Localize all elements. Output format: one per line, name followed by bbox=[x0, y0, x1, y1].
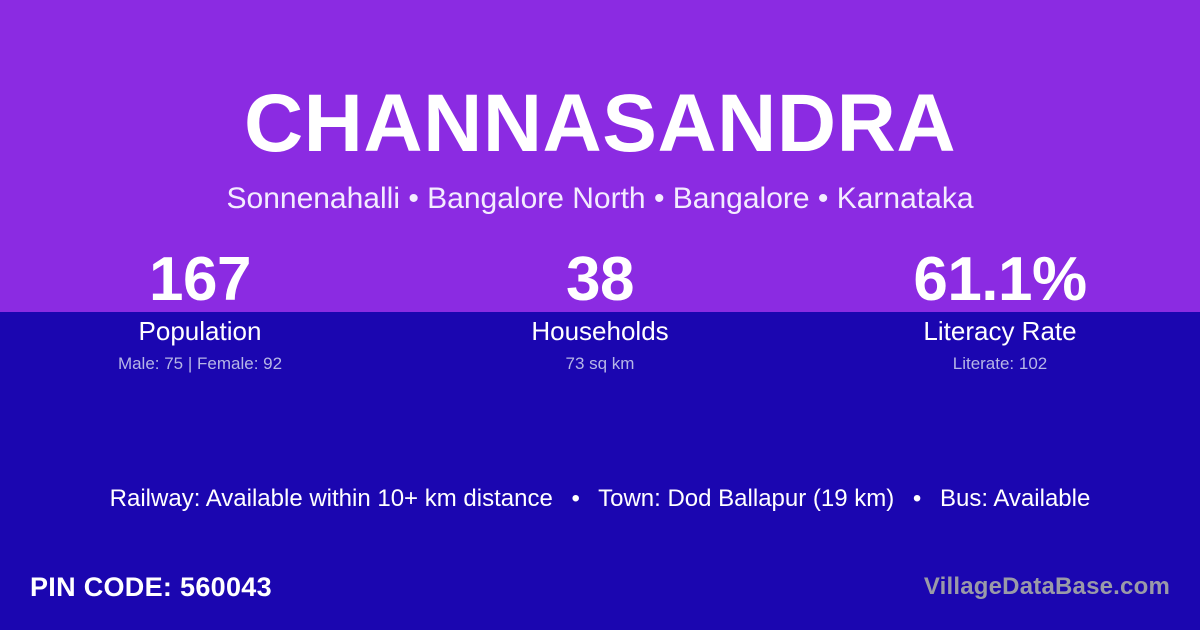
bullet-separator-icon: • bbox=[559, 485, 591, 512]
site-brand: VillageDataBase.com bbox=[924, 572, 1170, 602]
stat-households-value: 38 bbox=[400, 248, 800, 312]
stat-population-detail: Male: 75 | Female: 92 bbox=[0, 354, 400, 374]
stat-literacy-rate-label: Literacy Rate bbox=[800, 316, 1200, 346]
stat-population-label: Population bbox=[0, 316, 400, 346]
stat-households-detail: 73 sq km bbox=[400, 354, 800, 374]
statistics-row: 167 Population Male: 75 | Female: 92 38 … bbox=[0, 248, 1200, 388]
page-title: CHANNASANDRA bbox=[0, 82, 1200, 166]
stat-population-value: 167 bbox=[0, 248, 400, 312]
bullet-separator-icon: • bbox=[901, 485, 933, 512]
infrastructure-town: Town: Dod Ballapur (19 km) bbox=[598, 485, 894, 512]
infrastructure-bus: Bus: Available bbox=[940, 485, 1090, 512]
stat-literacy-rate-value: 61.1% bbox=[800, 248, 1200, 312]
stat-literacy-rate: 61.1% Literacy Rate Literate: 102 bbox=[800, 248, 1200, 388]
breadcrumb: Sonnenahalli • Bangalore North • Bangalo… bbox=[0, 180, 1200, 218]
village-info-card: CHANNASANDRA Sonnenahalli • Bangalore No… bbox=[0, 0, 1200, 630]
infrastructure-railway: Railway: Available within 10+ km distanc… bbox=[110, 485, 553, 512]
stat-households-label: Households bbox=[400, 316, 800, 346]
stat-population: 167 Population Male: 75 | Female: 92 bbox=[0, 248, 400, 388]
infrastructure-summary: Railway: Available within 10+ km distanc… bbox=[0, 483, 1200, 515]
stat-literacy-rate-detail: Literate: 102 bbox=[800, 354, 1200, 374]
footer: PIN CODE: 560043 VillageDataBase.com bbox=[0, 558, 1200, 630]
pin-code: PIN CODE: 560043 bbox=[30, 571, 272, 603]
stat-households: 38 Households 73 sq km bbox=[400, 248, 800, 388]
